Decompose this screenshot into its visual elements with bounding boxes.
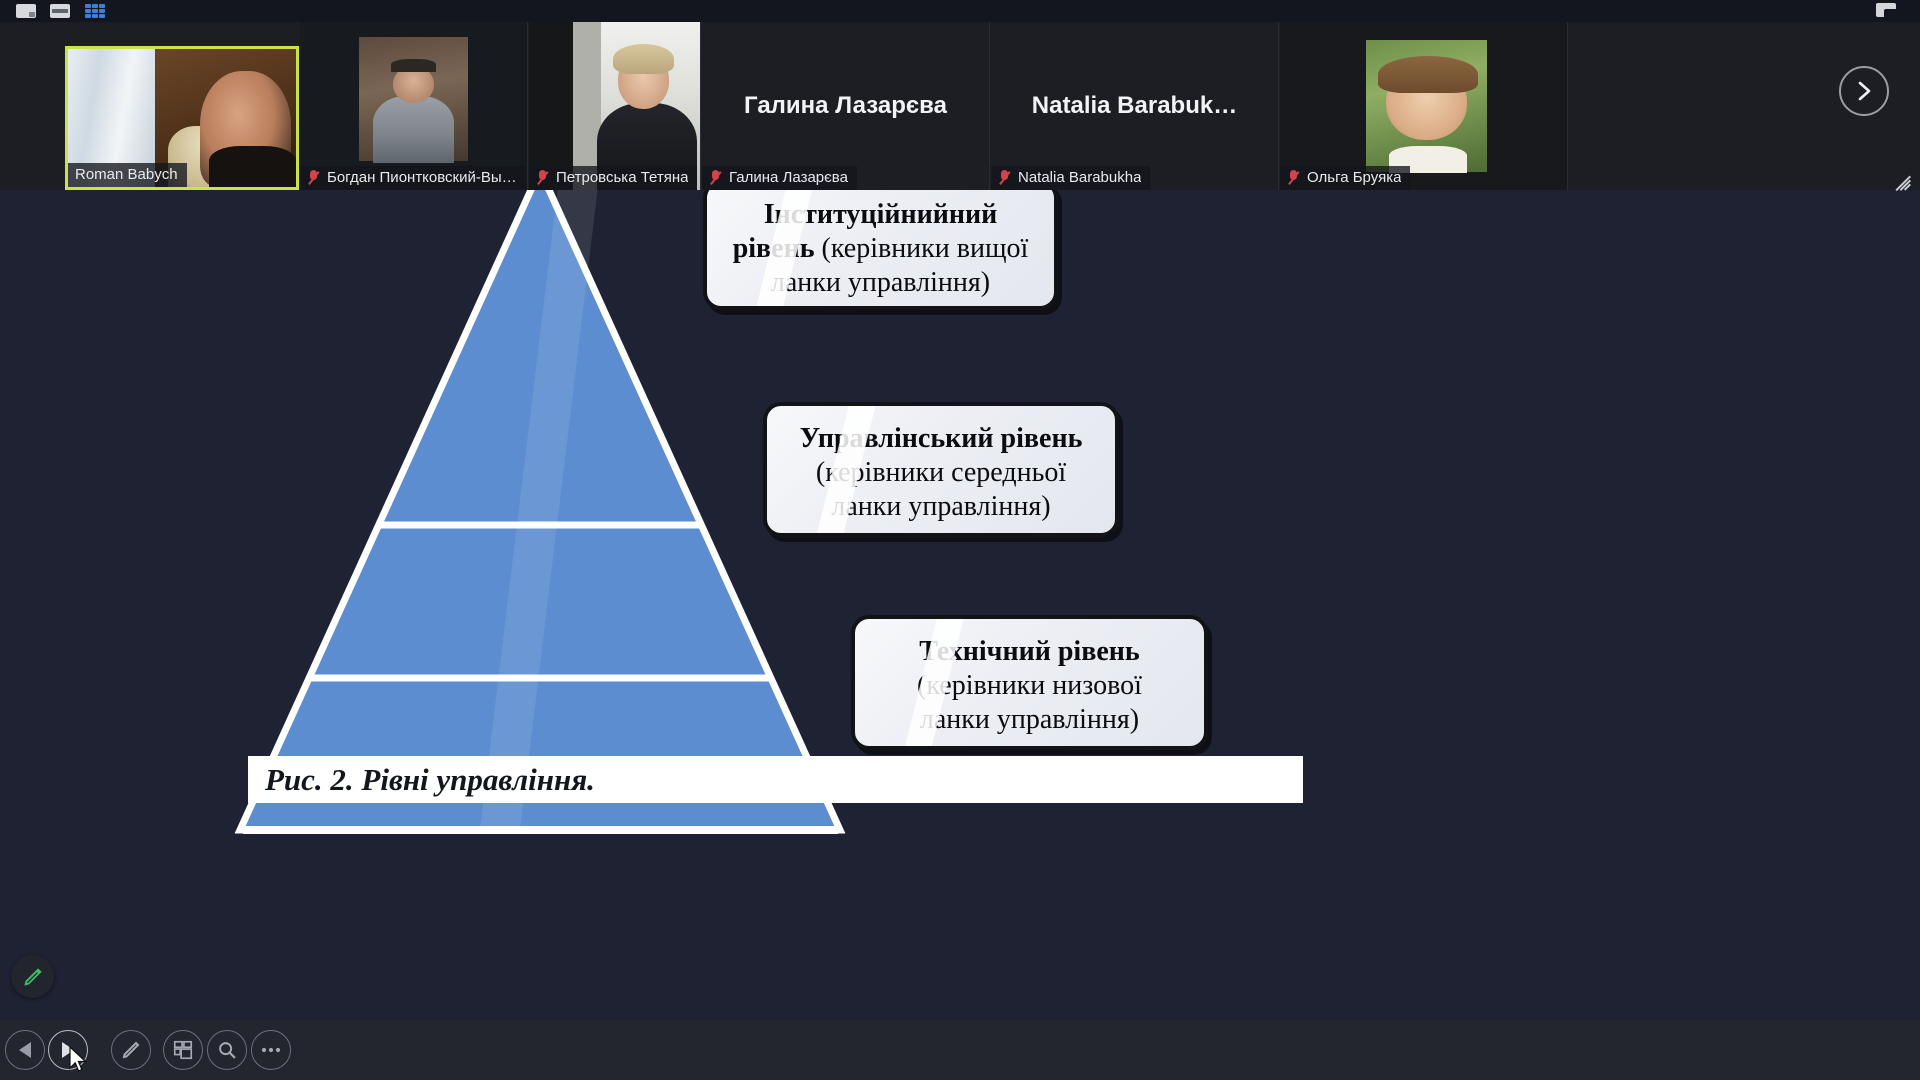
previous-slide-button[interactable] [5,1030,45,1070]
participant-name: Богдан Пионтковский-Выхватень [327,169,517,186]
next-slide-button[interactable] [48,1030,88,1070]
participant-name-badge: Богдан Пионтковский-Выхватень [300,166,526,190]
level-box-managerial: Управлінський рівень (керівники середньо… [763,402,1119,537]
video-panel-topbar [0,0,1920,22]
participant-video: Галина Лазарєва [702,22,989,190]
participant-name: Natalia Barabukha [1018,169,1141,186]
participant-filmstrip: Roman Babych Богдан Пионтковский-Выхвате… [0,22,1920,190]
participant-name-badge: Roman Babych [68,163,187,187]
ellipsis-icon [260,1046,282,1054]
participant-tile[interactable]: Roman Babych [65,46,299,190]
zoom-button[interactable] [207,1030,247,1070]
level-subtitle2-technical: ланки управління) [871,703,1188,737]
mic-muted-icon [1287,169,1300,186]
participant-name: Петровська Тетяна [556,169,688,186]
level-heading2-institutional: рівень [733,233,815,264]
participant-video [529,22,700,190]
level-box-technical: Технічний рівень (керівники низової ланк… [851,615,1208,750]
participant-name-badge: Петровська Тетяна [529,166,697,190]
participant-name: Roman Babych [75,166,178,183]
mic-muted-icon [536,169,549,186]
participant-display-name: Галина Лазарєва [730,92,961,120]
participant-name: Галина Лазарєва [729,169,848,186]
participant-tile[interactable]: Галина Лазарєва Галина Лазарєва [702,22,990,190]
participant-video [1280,22,1567,190]
pen-tool-button[interactable] [111,1030,151,1070]
participant-tile[interactable]: Natalia Barabuk… Natalia Barabukha [991,22,1279,190]
presentation-toolbar [0,1020,1920,1080]
view-mode-strip-icon[interactable] [50,4,70,18]
mic-muted-icon [709,169,722,186]
view-mode-speaker-icon[interactable] [16,4,36,18]
chevron-right-icon [1854,79,1874,103]
level-subtitle-technical: (керівники низової [871,669,1188,703]
level-subtitle2-institutional: ланки управління) [723,266,1038,300]
presentation-slide[interactable]: Інституційнийний рівень (керівники вищої… [0,190,1920,1020]
layout-icon [172,1039,194,1061]
participant-video [300,22,527,190]
collapse-panel-icon[interactable] [1876,3,1898,19]
magnifier-icon [216,1039,238,1061]
view-mode-grid-icon[interactable] [85,4,105,18]
participant-name-badge: Natalia Barabukha [991,166,1150,190]
filmstrip-next-page-button[interactable] [1839,66,1889,116]
level-box-institutional: Інституційнийний рівень (керівники вищої… [703,190,1058,310]
participant-tile[interactable]: Ольга Бруяка [1280,22,1568,190]
level-subtitle-institutional: (керівники вищої [822,233,1029,264]
slide-caption-bar: Рис. 2. Рівні управління. [248,756,1303,803]
level-heading-institutional: Інституційнийний [764,199,998,230]
pencil-icon [22,966,44,988]
participant-video: Natalia Barabuk… [991,22,1278,190]
participant-tile[interactable]: Петровська Тетяна [529,22,701,190]
more-options-button[interactable] [251,1030,291,1070]
pencil-icon [119,1038,143,1062]
mic-muted-icon [998,169,1011,186]
participant-tile[interactable]: Богдан Пионтковский-Выхватень [300,22,528,190]
level-heading-technical: Технічний рівень [919,636,1139,667]
pyramid-diagram: Інституційнийний рівень (керівники вищої… [0,190,1920,830]
level-subtitle-managerial: (керівники середньої [783,456,1099,490]
mic-muted-icon [307,169,320,186]
participant-name-badge: Ольга Бруяка [1280,166,1410,190]
participant-name: Ольга Бруяка [1307,169,1401,186]
slide-caption-text: Рис. 2. Рівні управління. [248,762,595,798]
triangle-right-icon [62,1042,74,1058]
panel-resize-handle[interactable] [1890,164,1912,186]
annotate-pen-button[interactable] [11,955,54,998]
participant-display-name: Natalia Barabuk… [1018,92,1251,120]
triangle-left-icon [19,1042,31,1058]
participant-name-badge: Галина Лазарєва [702,166,857,190]
layout-button[interactable] [163,1030,203,1070]
level-heading-managerial: Управлінський рівень [800,423,1083,454]
level-subtitle2-managerial: ланки управління) [783,490,1099,524]
